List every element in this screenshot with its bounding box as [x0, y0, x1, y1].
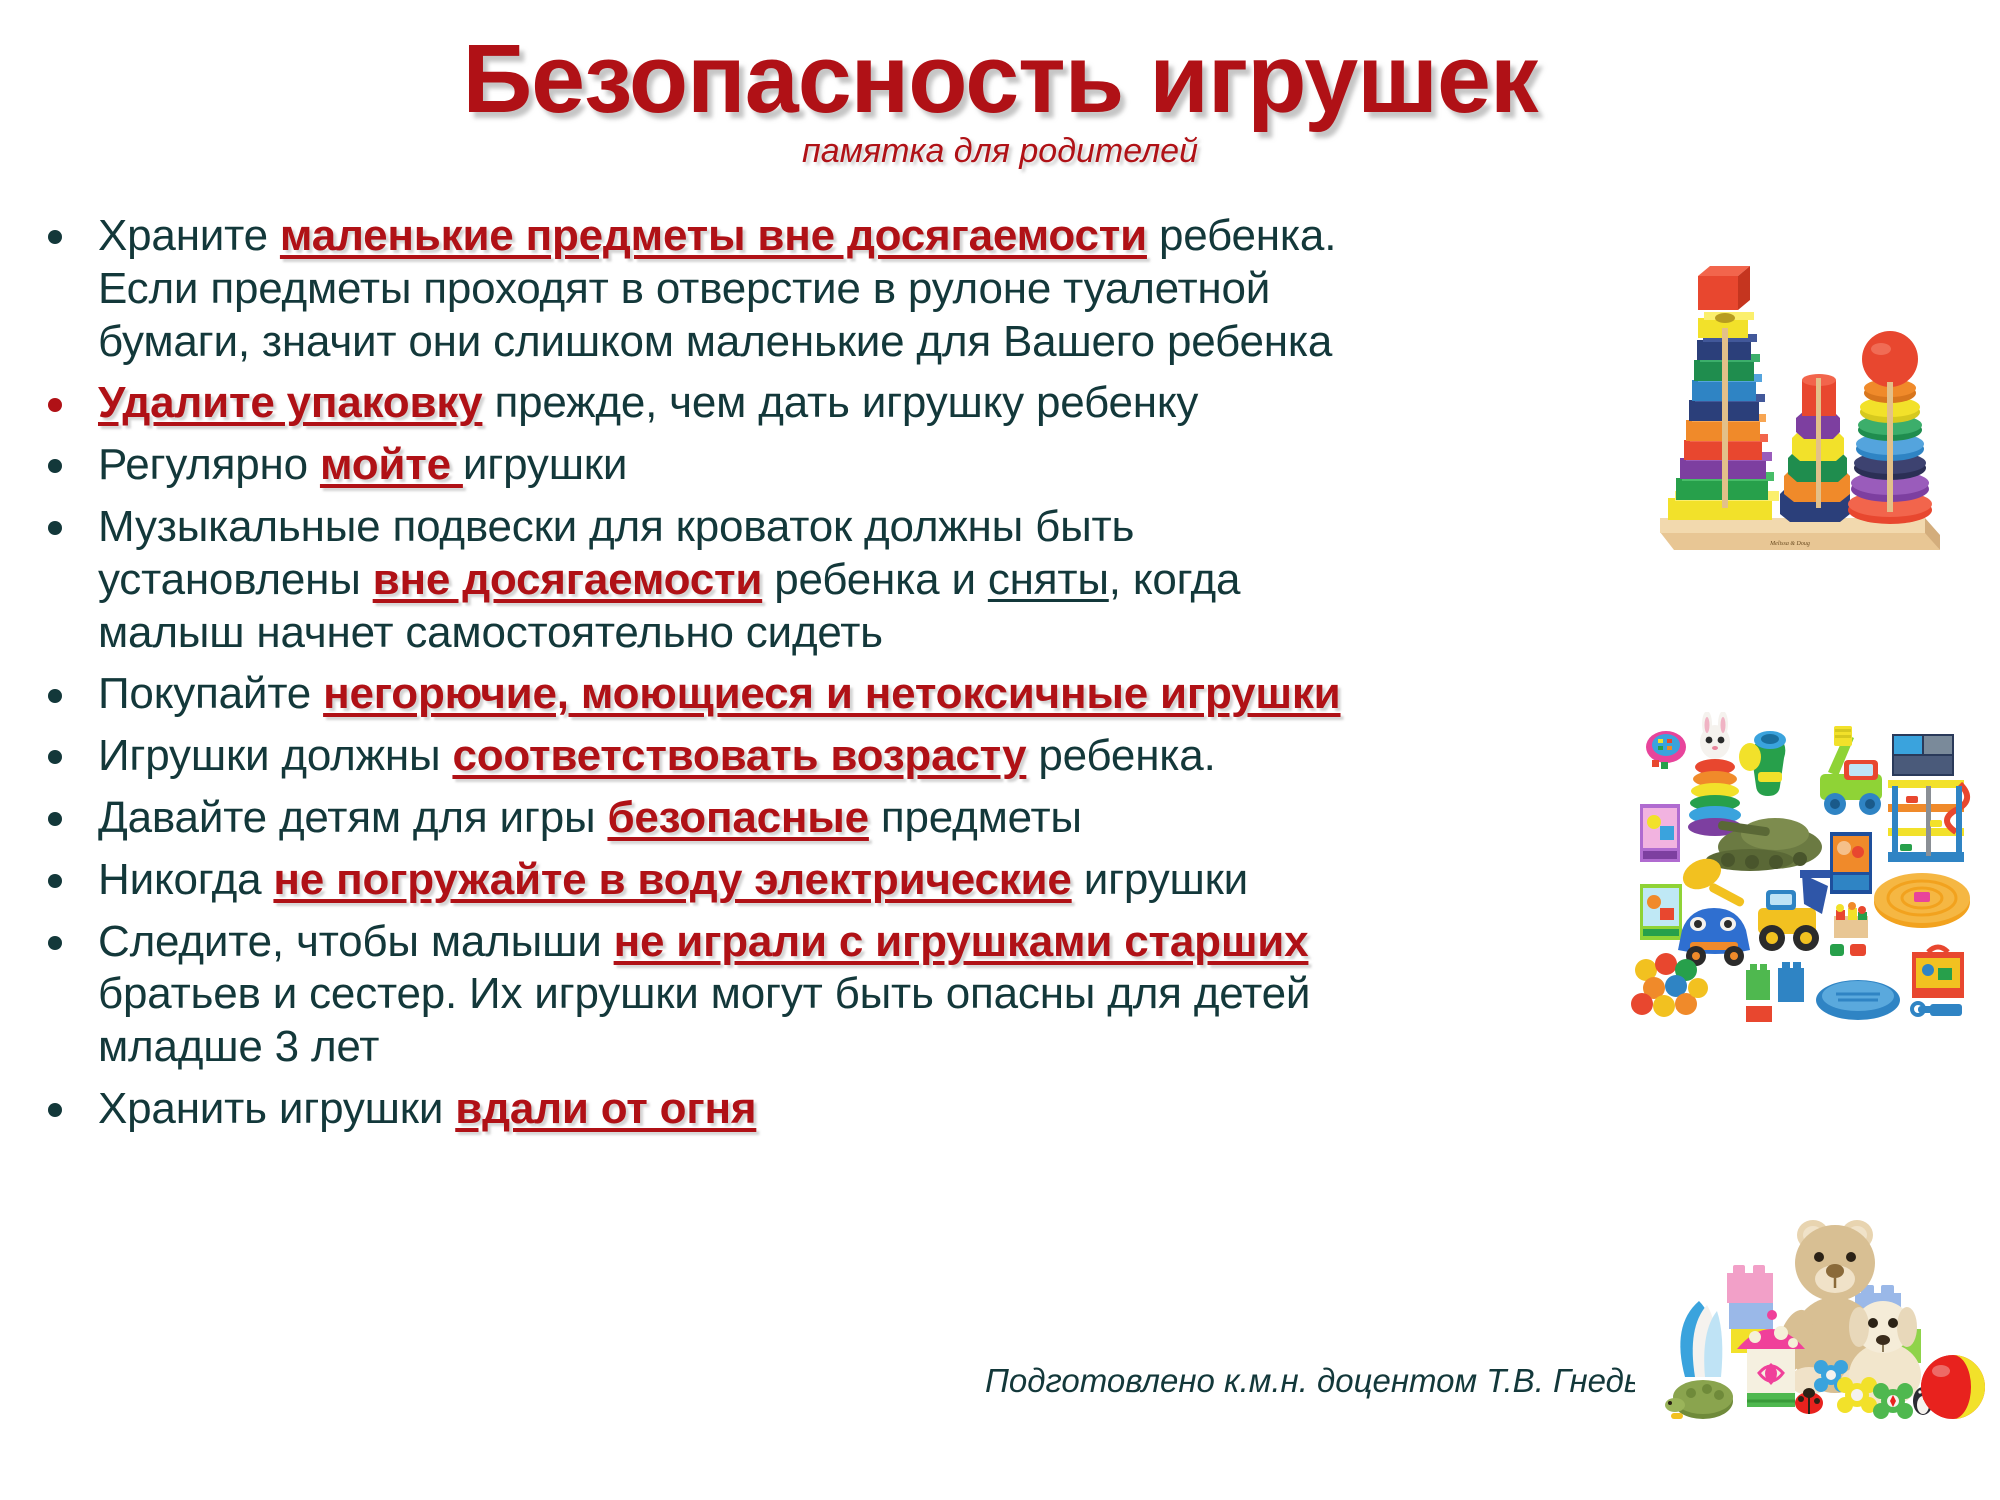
safety-tips-list: Храните маленькие предметы вне досягаемо… [30, 210, 1350, 1145]
plush-teddy-bear-and-toys-image [1635, 1195, 1990, 1470]
assorted-plastic-toys-image [1630, 712, 1980, 1022]
page-title: Безопасность игрушек [0, 28, 2000, 130]
safety-tip-item: Регулярно мойте игрушки [30, 439, 1350, 492]
emphasis-red-text: соответствовать возрасту [452, 731, 1026, 780]
svg-text:Melissa & Doug: Melissa & Doug [1769, 541, 1810, 547]
tip-text: предметы [869, 793, 1082, 842]
bullet-marker-icon [48, 812, 62, 826]
bullet-marker-icon [48, 521, 62, 535]
wooden-geometric-stacker-toys-image: Melissa & Doug [1640, 232, 1950, 572]
emphasis-red-text: мойте [320, 440, 463, 489]
tip-text: братьев и сестер. Их игрушки могут быть … [98, 969, 1310, 1071]
safety-tip-item: Хранить игрушки вдали от огня [30, 1083, 1350, 1136]
tip-text: Игрушки должны [98, 731, 452, 780]
bullet-marker-icon [48, 398, 62, 412]
bullet-marker-icon [48, 750, 62, 764]
safety-tip-item: Игрушки должны соответствовать возрасту … [30, 730, 1350, 783]
safety-tip-item: Храните маленькие предметы вне досягаемо… [30, 210, 1350, 368]
bullet-marker-icon [48, 230, 62, 244]
emphasis-red-text: негорючие, моющиеся и нетоксичные игрушк… [323, 669, 1340, 718]
tip-text: Хранить игрушки [98, 1084, 455, 1133]
safety-tip-item: Удалите упаковку прежде, чем дать игрушк… [30, 377, 1350, 430]
bullet-marker-icon [48, 1103, 62, 1117]
safety-tip-item: Следите, чтобы малыши не играли с игрушк… [30, 916, 1350, 1074]
footer-credit: Подготовлено к.м.н. доцентом Т.В. Гнедьк… [985, 1362, 1675, 1400]
tip-text: игрушки [1072, 855, 1248, 904]
safety-tip-item: Покупайте негорючие, моющиеся и нетоксич… [30, 668, 1350, 721]
tip-text: Покупайте [98, 669, 323, 718]
tip-text: прежде, чем дать игрушку ребенку [482, 378, 1198, 427]
safety-tip-item: Никогда не погружайте в воду электрическ… [30, 854, 1350, 907]
bullet-marker-icon [48, 689, 62, 703]
page-subtitle: памятка для родителей [0, 132, 2000, 171]
tip-text: Никогда [98, 855, 273, 904]
emphasis-red-text: вне досягаемости [373, 555, 763, 604]
title-block: Безопасность игрушек памятка для родител… [0, 28, 2000, 171]
emphasis-red-text: вдали от огня [455, 1084, 756, 1133]
tip-text: Давайте детям для игры [98, 793, 607, 842]
tip-text: игрушки [463, 440, 627, 489]
tip-text: Регулярно [98, 440, 320, 489]
emphasis-red-text: безопасные [607, 793, 868, 842]
tip-text: Следите, чтобы малыши [98, 917, 614, 966]
emphasis-red-text: не погружайте в воду электрические [273, 855, 1071, 904]
safety-tip-item: Музыкальные подвески для кроваток должны… [30, 501, 1350, 659]
bullet-marker-icon [48, 874, 62, 888]
emphasis-underlined-text: сняты [988, 555, 1109, 604]
tip-text: Храните [98, 211, 280, 260]
emphasis-red-text: Удалите упаковку [98, 378, 482, 427]
emphasis-red-text: не играли с игрушками старших [614, 917, 1309, 966]
tip-text: ребенка. [1026, 731, 1215, 780]
safety-tip-item: Давайте детям для игры безопасные предме… [30, 792, 1350, 845]
bullet-marker-icon [48, 936, 62, 950]
emphasis-red-text: маленькие предметы вне досягаемости [280, 211, 1147, 260]
bullet-marker-icon [48, 459, 62, 473]
tip-text: ребенка и [762, 555, 988, 604]
